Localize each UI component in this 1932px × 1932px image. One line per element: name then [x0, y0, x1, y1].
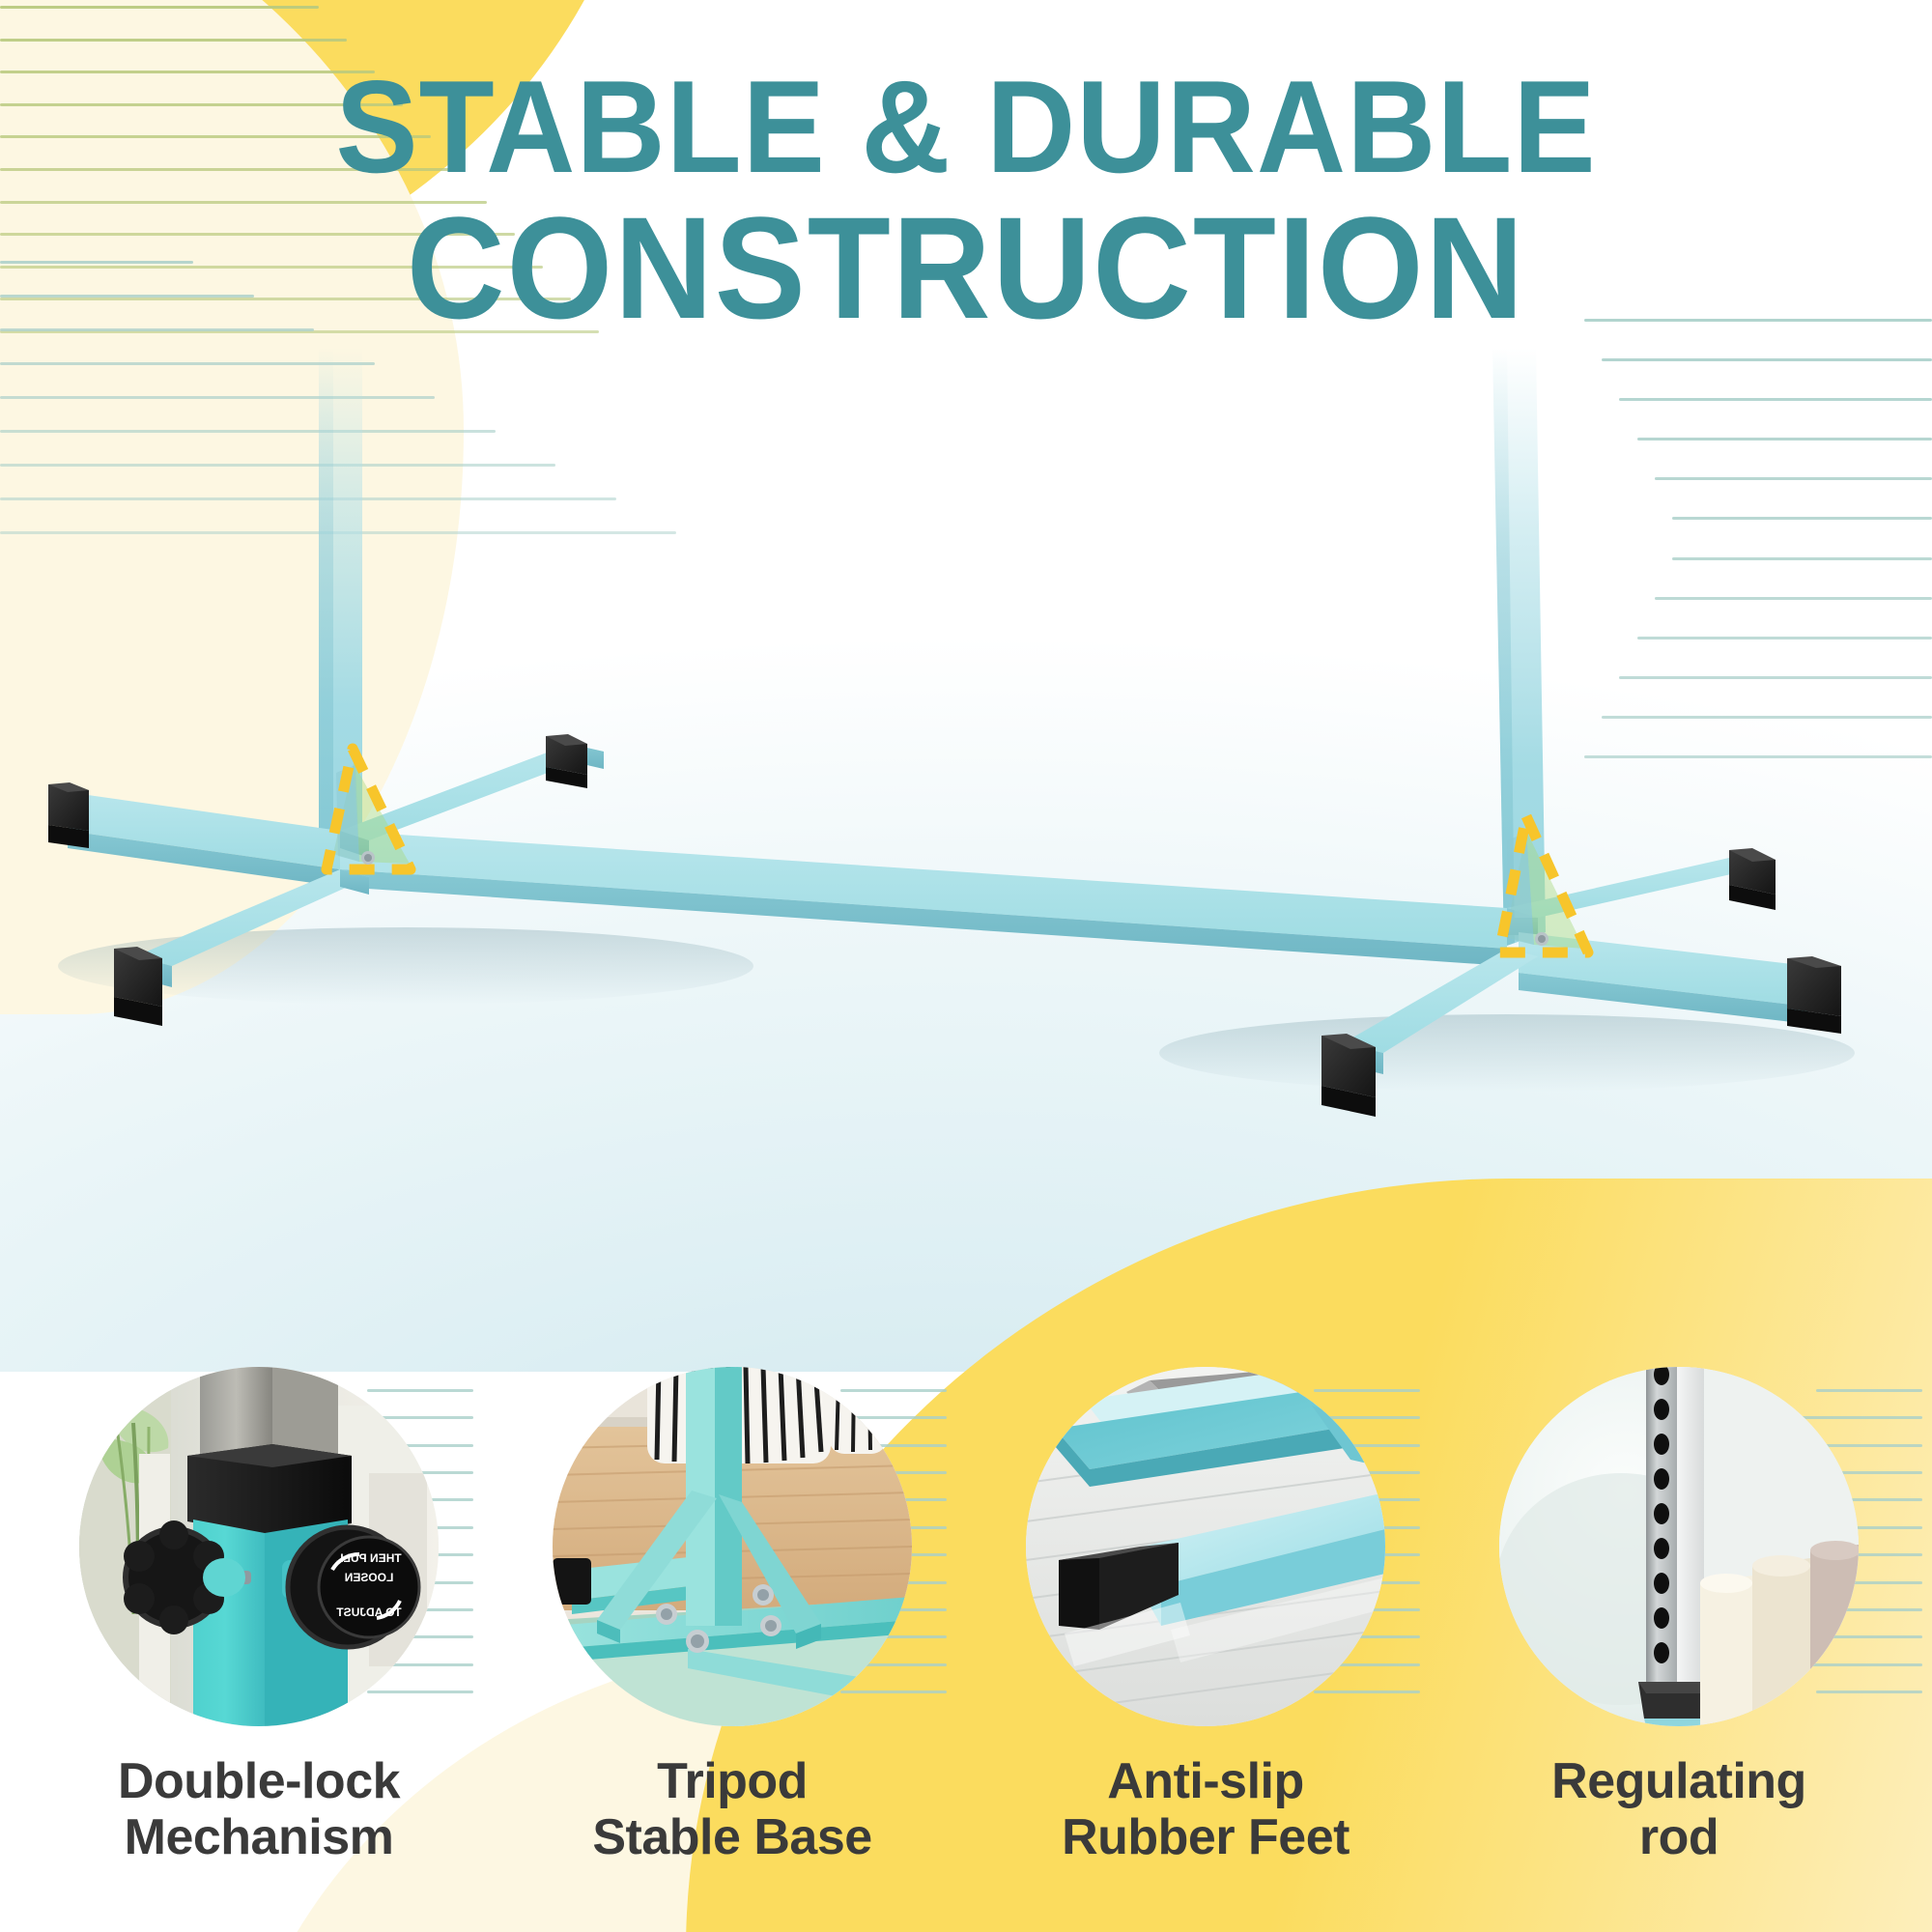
title-line-2: CONSTRUCTION — [58, 194, 1874, 342]
caption-line-1: Double-lock — [79, 1753, 439, 1809]
page-title: STABLE & DURABLE CONSTRUCTION — [58, 60, 1874, 342]
feature-item-tripod-base[interactable]: Tripod Stable Base — [553, 1367, 912, 1865]
title-line-1: STABLE & DURABLE — [58, 60, 1874, 194]
feature-photo-regulating-rod — [1499, 1367, 1859, 1726]
caption-line-1: Regulating — [1499, 1753, 1859, 1809]
caption-line-1: Anti-slip — [1026, 1753, 1385, 1809]
feature-item-double-lock[interactable]: THEN PULL LOOSEN TO ADJUST Double-lock M… — [79, 1367, 439, 1865]
feature-photo-tripod-base — [553, 1367, 912, 1726]
caption-line-2: Stable Base — [553, 1809, 912, 1865]
feature-caption-rubber-feet: Anti-slip Rubber Feet — [1026, 1753, 1385, 1865]
svg-text:LOOSEN: LOOSEN — [345, 1571, 394, 1584]
caption-line-1: Tripod — [553, 1753, 912, 1809]
feature-photo-double-lock: THEN PULL LOOSEN TO ADJUST — [79, 1367, 439, 1726]
hero-product-image — [0, 290, 1932, 1372]
caption-line-2: Mechanism — [79, 1809, 439, 1865]
feature-caption-double-lock: Double-lock Mechanism — [79, 1753, 439, 1865]
feature-caption-regulating-rod: Regulating rod — [1499, 1753, 1859, 1865]
feature-item-regulating-rod[interactable]: Regulating rod — [1499, 1367, 1859, 1865]
caption-line-2: Rubber Feet — [1026, 1809, 1385, 1865]
feature-photo-rubber-feet — [1026, 1367, 1385, 1726]
caption-line-2: rod — [1499, 1809, 1859, 1865]
feature-caption-tripod-base: Tripod Stable Base — [553, 1753, 912, 1865]
infographic-canvas: STABLE & DURABLE CONSTRUCTION — [0, 0, 1932, 1932]
feature-item-rubber-feet[interactable]: Anti-slip Rubber Feet — [1026, 1367, 1385, 1865]
feature-row: THEN PULL LOOSEN TO ADJUST Double-lock M… — [0, 1367, 1932, 1932]
